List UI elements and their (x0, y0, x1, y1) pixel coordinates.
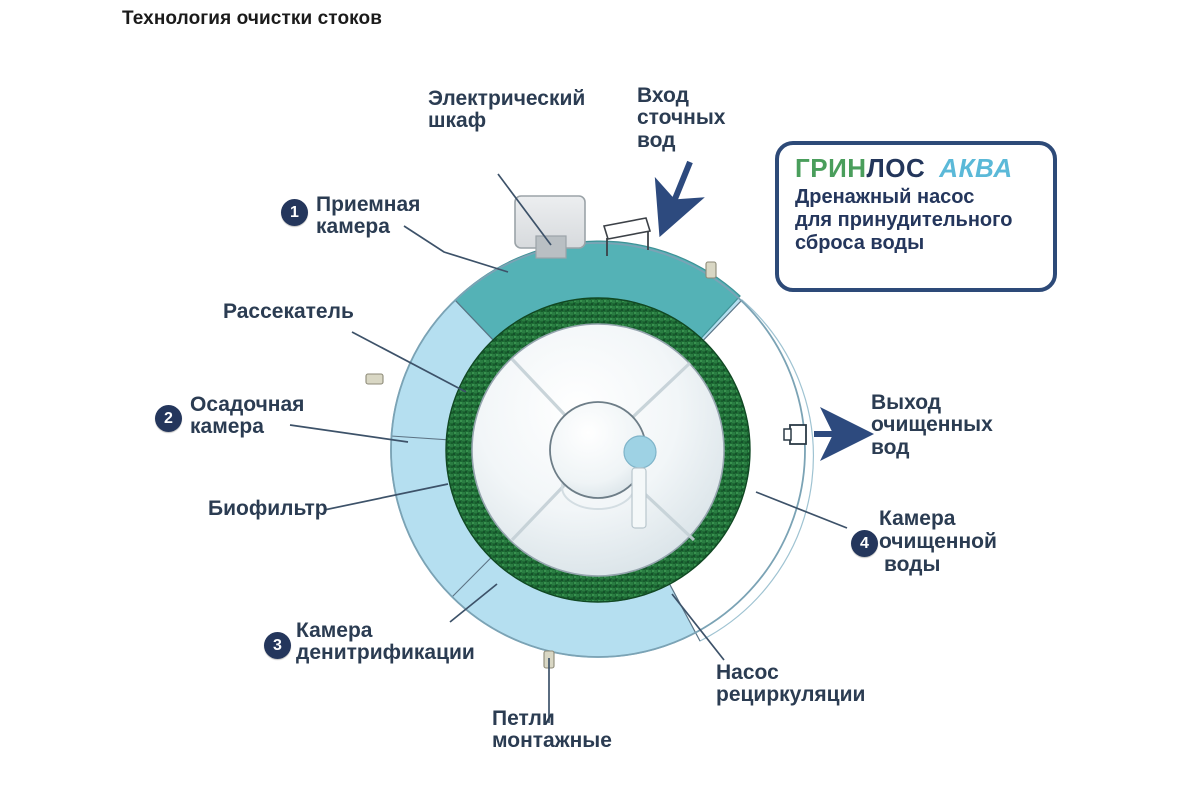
label-mounting-loops: Петли монтажные (492, 708, 612, 753)
recirculation-pump (624, 436, 656, 468)
electrical-cabinet (515, 196, 585, 258)
diagram-canvas: Технология очистки стоков (0, 0, 1200, 800)
label-intake-chamber: Приемная камера (316, 194, 420, 239)
badge-1: 1 (281, 199, 308, 226)
label-biofilter: Биофильтр (208, 498, 328, 520)
badge-3: 3 (264, 632, 291, 659)
label-clean-water-chamber-line2: очищенной (879, 531, 997, 553)
inner-dome (472, 324, 724, 576)
label-clean-water-chamber-line1: Камера (879, 508, 955, 530)
brand-los: ЛОС (867, 153, 926, 183)
waste-inlet-arrow (664, 162, 690, 226)
mounting-loop-left (366, 374, 383, 384)
brand-wordmark: ГРИНЛОСАКВА (795, 155, 1037, 181)
brand-akva: АКВА (939, 153, 1012, 183)
label-settling-chamber: Осадочная камера (190, 394, 304, 439)
badge-2: 2 (155, 405, 182, 432)
mounting-loop-top-right (706, 262, 716, 278)
label-clean-water-chamber-line3: воды (884, 554, 940, 576)
label-denitrification-chamber: Камера денитрификации (296, 620, 475, 665)
label-clean-water-outlet: Выход очищенных вод (871, 392, 993, 459)
badge-4: 4 (851, 530, 878, 557)
label-recirculation-pump: Насос рециркуляции (716, 662, 865, 707)
treatment-plant-illustration (0, 0, 1200, 800)
label-waste-inlet: Вход сточных вод (637, 85, 725, 152)
brand-grin: ГРИН (795, 153, 867, 183)
label-splitter: Рассекатель (223, 301, 354, 323)
label-electrical-cabinet: Электрический шкаф (428, 88, 585, 133)
logo-description: Дренажный насос для принудительного сбро… (795, 186, 1037, 254)
logo-card: ГРИНЛОСАКВА Дренажный насос для принудит… (775, 141, 1057, 292)
recirculation-pipe (632, 468, 646, 528)
